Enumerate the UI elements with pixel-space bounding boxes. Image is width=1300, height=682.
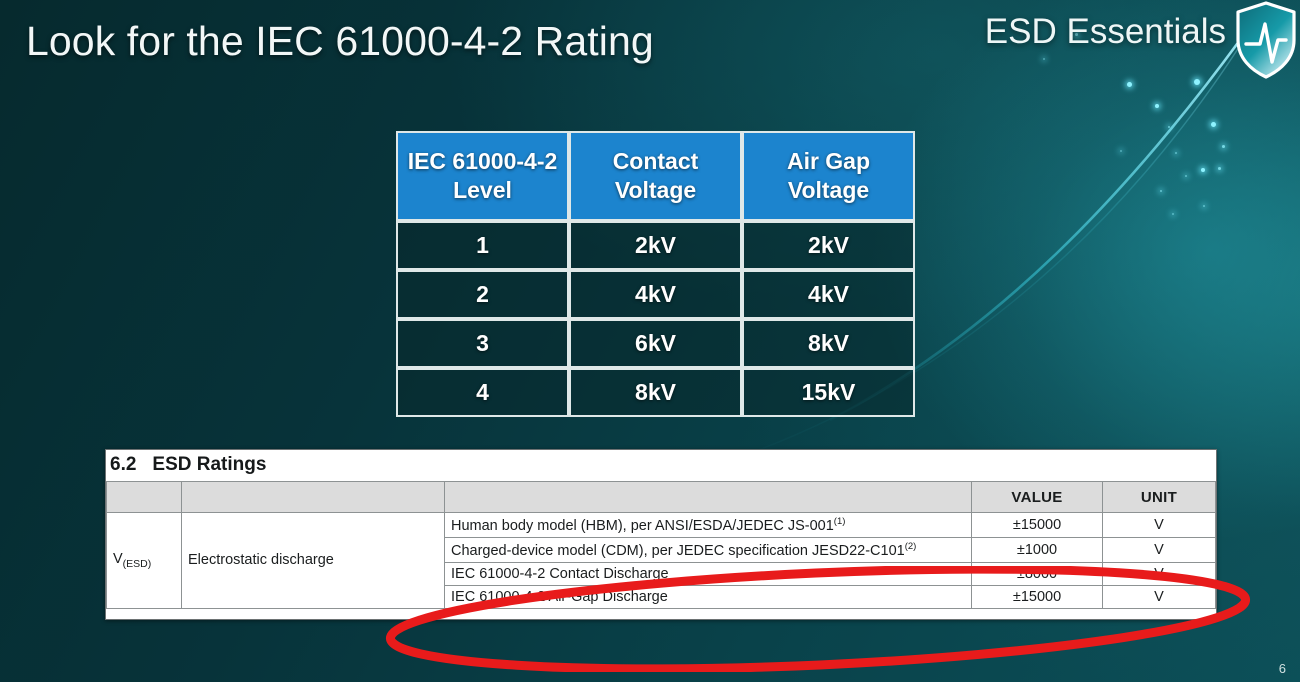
particle-dot <box>1185 175 1187 177</box>
cell-contact: 8kV <box>569 368 742 417</box>
cell-contact: 4kV <box>569 270 742 319</box>
particle-dot <box>1211 122 1216 127</box>
cell-value: ±8000 <box>972 562 1103 585</box>
cell-value: ±15000 <box>972 513 1103 538</box>
column-header-parameter <box>182 482 445 513</box>
column-header-description <box>445 482 972 513</box>
cell-parameter: Electrostatic discharge <box>182 513 445 609</box>
column-header-air-gap-voltage: Air Gap Voltage <box>742 131 915 221</box>
cell-airgap: 2kV <box>742 221 915 270</box>
section-title: ESD Ratings <box>152 454 266 475</box>
cell-airgap: 4kV <box>742 270 915 319</box>
cell-level: 2 <box>396 270 569 319</box>
cell-contact: 6kV <box>569 319 742 368</box>
table-row: 1 2kV 2kV <box>396 221 915 270</box>
particle-dot <box>1194 79 1200 85</box>
symbol-subscript: (ESD) <box>123 558 152 570</box>
cell-level: 4 <box>396 368 569 417</box>
cell-unit: V <box>1103 562 1216 585</box>
cell-value: ±15000 <box>972 585 1103 608</box>
particle-dot <box>1203 205 1205 207</box>
brand-label: ESD Essentials <box>985 12 1226 52</box>
particle-dot <box>1201 168 1205 172</box>
cell-level: 3 <box>396 319 569 368</box>
particle-dot <box>1175 152 1177 154</box>
footnote-marker: (2) <box>905 541 917 552</box>
shield-pulse-icon <box>1234 0 1298 80</box>
table-header-row: IEC 61000-4-2 Level Contact Voltage Air … <box>396 131 915 221</box>
table-row: 3 6kV 8kV <box>396 319 915 368</box>
particle-dot <box>1160 190 1162 192</box>
table-header-row: VALUE UNIT <box>107 482 1216 513</box>
particle-dot <box>1155 104 1159 108</box>
cell-symbol: V(ESD) <box>107 513 182 609</box>
column-header-unit: UNIT <box>1103 482 1216 513</box>
table-row: 4 8kV 15kV <box>396 368 915 417</box>
cell-unit: V <box>1103 537 1216 562</box>
cell-description: Charged-device model (CDM), per JEDEC sp… <box>445 537 972 562</box>
column-header-symbol <box>107 482 182 513</box>
cell-description: IEC 61000-4-2 Air-Gap Discharge <box>445 585 972 608</box>
esd-ratings-table: VALUE UNIT V(ESD) Electrostatic discharg… <box>106 481 1216 609</box>
particle-dot <box>1120 150 1122 152</box>
particle-dot <box>1168 126 1170 128</box>
cell-unit: V <box>1103 585 1216 608</box>
cell-description: Human body model (HBM), per ANSI/ESDA/JE… <box>445 513 972 538</box>
cell-contact: 2kV <box>569 221 742 270</box>
datasheet-bottom-margin <box>106 609 1216 619</box>
particle-dot <box>1172 213 1174 215</box>
particle-dot <box>1222 145 1225 148</box>
column-header-contact-voltage: Contact Voltage <box>569 131 742 221</box>
particle-dot <box>1043 58 1045 60</box>
column-header-value: VALUE <box>972 482 1103 513</box>
cell-unit: V <box>1103 513 1216 538</box>
cell-value: ±1000 <box>972 537 1103 562</box>
particle-dot <box>1218 167 1221 170</box>
page-number: 6 <box>1279 661 1286 676</box>
iec-level-table: IEC 61000-4-2 Level Contact Voltage Air … <box>396 131 915 417</box>
footnote-marker: (1) <box>834 516 846 527</box>
cell-airgap: 15kV <box>742 368 915 417</box>
cell-level: 1 <box>396 221 569 270</box>
particle-dot <box>1127 82 1132 87</box>
table-row: V(ESD) Electrostatic discharge Human bod… <box>107 513 1216 538</box>
cell-description: IEC 61000-4-2 Contact Discharge <box>445 562 972 585</box>
datasheet-section-heading: 6.2ESD Ratings <box>106 450 1216 481</box>
cell-airgap: 8kV <box>742 319 915 368</box>
datasheet-clipping: 6.2ESD Ratings VALUE UNIT V(ESD) Electro… <box>105 449 1217 620</box>
presentation-slide: Look for the IEC 61000-4-2 Rating ESD Es… <box>0 0 1300 682</box>
column-header-level: IEC 61000-4-2 Level <box>396 131 569 221</box>
table-row: 2 4kV 4kV <box>396 270 915 319</box>
page-title: Look for the IEC 61000-4-2 Rating <box>26 18 654 65</box>
section-number: 6.2 <box>110 454 136 475</box>
